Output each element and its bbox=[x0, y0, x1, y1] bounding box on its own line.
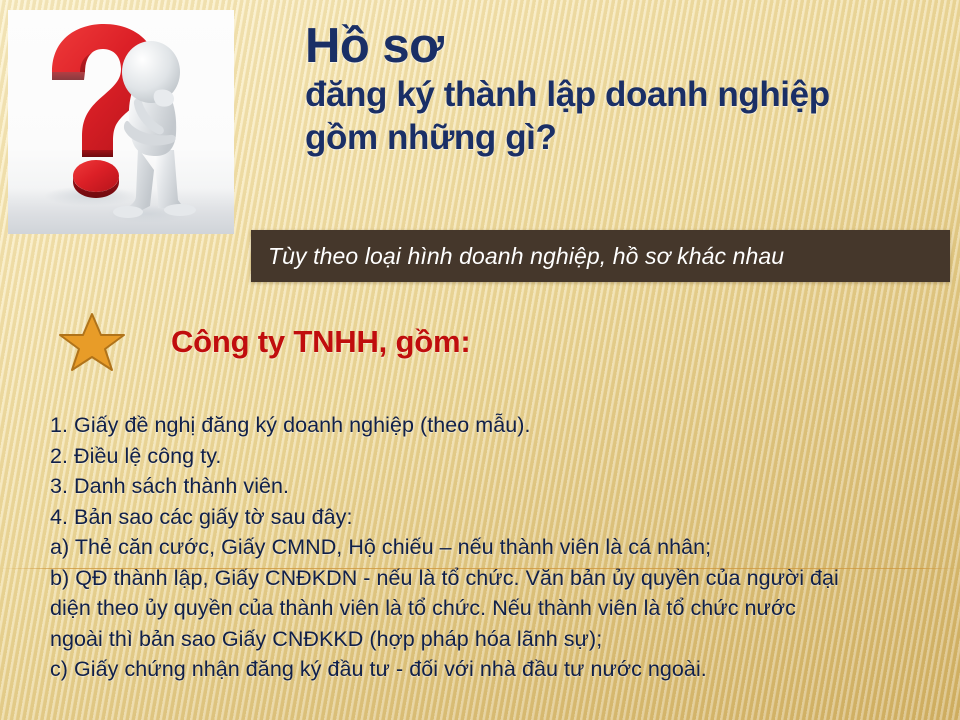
body-list: 1. Giấy đề nghị đăng ký doanh nghiệp (th… bbox=[50, 410, 930, 685]
list-item: 3. Danh sách thành viên. bbox=[50, 471, 930, 502]
highlight-banner: Tùy theo loại hình doanh nghiệp, hồ sơ k… bbox=[251, 230, 950, 282]
page-subtitle-line-2: gồm những gì? bbox=[305, 117, 945, 160]
section-heading-row: Công ty TNHH, gồm: bbox=[58, 310, 470, 374]
list-item: 4. Bản sao các giấy tờ sau đây: bbox=[50, 502, 930, 533]
page-title: Hồ sơ bbox=[305, 22, 945, 72]
list-item: 1. Giấy đề nghị đăng ký doanh nghiệp (th… bbox=[50, 410, 930, 441]
question-mark-figure-icon bbox=[8, 10, 234, 234]
list-item: 2. Điều lệ công ty. bbox=[50, 441, 930, 472]
list-item: b) QĐ thành lập, Giấy CNĐKDN - nếu là tổ… bbox=[50, 563, 930, 594]
star-icon bbox=[58, 310, 126, 374]
list-item: c) Giấy chứng nhận đăng ký đầu tư - đối … bbox=[50, 654, 930, 685]
page-subtitle-line-1: đăng ký thành lập doanh nghiệp bbox=[305, 74, 945, 117]
list-item: a) Thẻ căn cước, Giấy CMND, Hộ chiếu – n… bbox=[50, 532, 930, 563]
list-item: diện theo ủy quyền của thành viên là tổ … bbox=[50, 593, 930, 624]
title-block: Hồ sơ đăng ký thành lập doanh nghiệp gồm… bbox=[305, 22, 945, 159]
section-heading-label: Công ty TNHH, gồm: bbox=[171, 324, 470, 360]
banner-text: Tùy theo loại hình doanh nghiệp, hồ sơ k… bbox=[251, 243, 784, 270]
list-item: ngoài thì bản sao Giấy CNĐKKD (hợp pháp … bbox=[50, 624, 930, 655]
question-mark-illustration bbox=[8, 10, 234, 234]
slide-canvas: Hồ sơ đăng ký thành lập doanh nghiệp gồm… bbox=[0, 0, 960, 720]
